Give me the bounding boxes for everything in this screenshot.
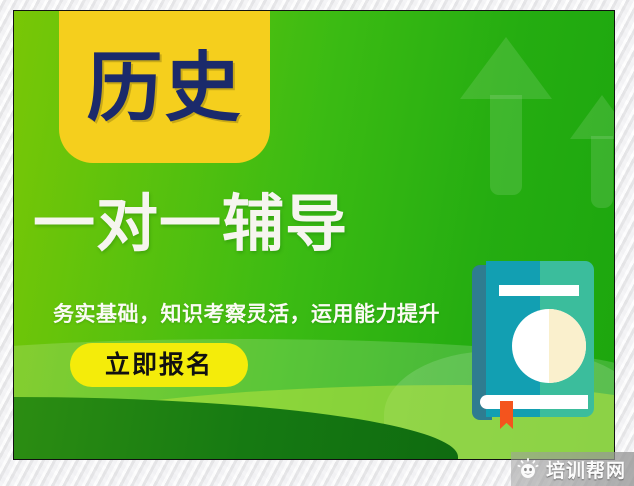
subject-chip: 历史	[59, 10, 270, 163]
book-band-top	[499, 285, 579, 296]
subtitle-text: 务实基础，知识考察灵活，运用能力提升	[24, 298, 469, 328]
smiling-sun-face-icon	[517, 458, 539, 480]
book-circle-emblem	[512, 309, 586, 383]
book-circle-right-half	[549, 309, 586, 383]
watermark: 培训帮网	[511, 452, 634, 486]
watermark-label: 培训帮网	[546, 456, 626, 483]
signup-button[interactable]: 立即报名	[70, 343, 248, 387]
book-band-bottom	[480, 395, 588, 409]
advertisement-banner[interactable]: 历史 一对一辅导 务实基础，知识考察灵活，运用能力提升 立即报名	[13, 10, 615, 460]
book-illustration	[472, 261, 594, 424]
headline-text: 一对一辅导	[33, 191, 348, 256]
subject-label: 历史	[87, 42, 243, 126]
